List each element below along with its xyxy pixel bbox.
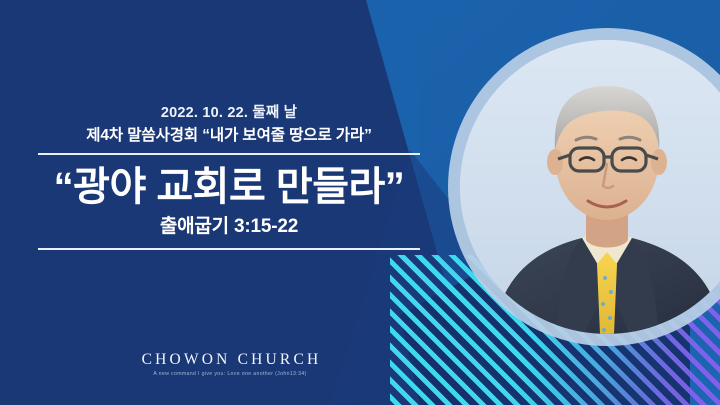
date-line: 2022. 10. 22. 둘째 날 [0,104,458,122]
sermon-title: “광야 교회로 만들라” [0,165,458,210]
scripture-reference: 출애굽기 3:15-22 [0,216,458,239]
sermon-title-slide: 2022. 10. 22. 둘째 날 제4차 말씀사경회 “내가 보여줄 땅으로… [0,0,720,405]
divider-bottom [38,248,420,250]
church-name: CHOWON CHURCH [0,351,460,368]
church-tagline: A new command I give you: Love one anoth… [0,371,460,377]
speaker-portrait [448,28,720,346]
church-logo: CHOWON CHURCH A new command I give you: … [0,351,460,377]
title-text-block: 2022. 10. 22. 둘째 날 제4차 말씀사경회 “내가 보여줄 땅으로… [0,104,458,250]
conference-line: 제4차 말씀사경회 “내가 보여줄 땅으로 가라” [0,126,458,145]
divider-top [38,153,420,155]
